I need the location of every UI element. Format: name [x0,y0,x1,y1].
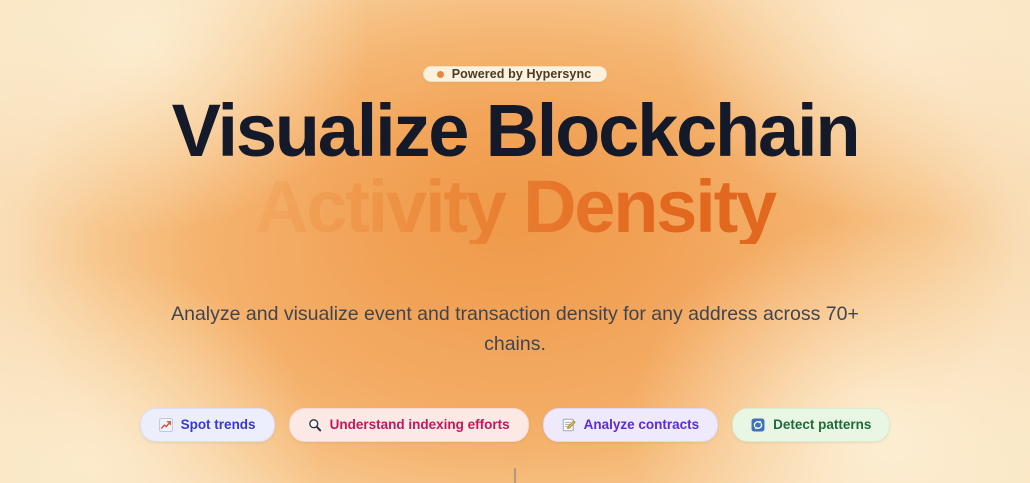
page-title: Visualize Blockchain Activity Density [172,94,859,244]
headline-line-2: Activity Density [172,170,859,244]
hero-content: Powered by Hypersync Visualize Blockchai… [0,0,1030,483]
chip-label: Detect patterns [773,418,871,432]
hero-section: Powered by Hypersync Visualize Blockchai… [0,0,1030,483]
hero-subtitle: Analyze and visualize event and transact… [159,299,871,359]
chip-spot-trends[interactable]: Spot trends [140,408,275,442]
refresh-cycle-icon [751,418,765,432]
chip-understand-indexing-efforts[interactable]: Understand indexing efforts [289,408,529,442]
magnifying-glass-icon [308,418,322,432]
scroll-down-indicator[interactable] [504,466,526,483]
chip-analyze-contracts[interactable]: Analyze contracts [543,408,719,442]
memo-icon [562,418,576,432]
chip-label: Analyze contracts [584,418,700,432]
orange-dot-icon [437,71,444,78]
chip-label: Spot trends [181,418,256,432]
headline-line-1: Visualize Blockchain [172,94,859,168]
chip-label: Understand indexing efforts [330,418,510,432]
powered-by-badge-label: Powered by Hypersync [452,67,592,81]
chart-increasing-icon [159,418,173,432]
powered-by-badge: Powered by Hypersync [423,66,608,82]
chip-detect-patterns[interactable]: Detect patterns [732,408,890,442]
arrow-down-icon [504,466,526,483]
feature-chip-row: Spot trends Understand indexing efforts [140,408,891,442]
